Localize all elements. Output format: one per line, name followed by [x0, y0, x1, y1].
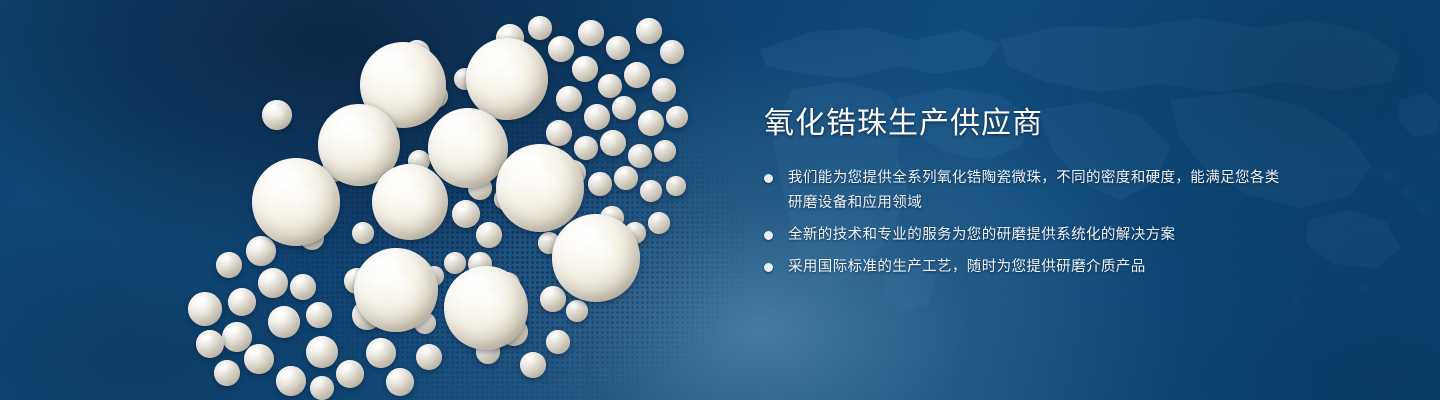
bullet-dot-icon — [764, 263, 773, 272]
list-item: 我们能为您提供全系列氧化锆陶瓷微珠，不同的密度和硬度，能满足您各类研磨设备和应用… — [764, 166, 1284, 216]
hero-banner: 氧化锆珠生产供应商 我们能为您提供全系列氧化锆陶瓷微珠，不同的密度和硬度，能满足… — [0, 0, 1440, 400]
feature-list: 我们能为您提供全系列氧化锆陶瓷微珠，不同的密度和硬度，能满足您各类研磨设备和应用… — [764, 166, 1284, 280]
list-item-label: 采用国际标准的生产工艺，随时为您提供研磨介质产品 — [788, 259, 1146, 275]
list-item: 全新的技术和专业的服务为您的研磨提供系统化的解决方案 — [764, 223, 1284, 248]
list-item-label: 我们能为您提供全系列氧化锆陶瓷微珠，不同的密度和硬度，能满足您各类研磨设备和应用… — [788, 170, 1280, 211]
page-title: 氧化锆珠生产供应商 — [764, 104, 1284, 144]
bullet-dot-icon — [764, 231, 773, 240]
list-item: 采用国际标准的生产工艺，随时为您提供研磨介质产品 — [764, 255, 1284, 280]
bullet-dot-icon — [764, 174, 773, 183]
banner-content: 氧化锆珠生产供应商 我们能为您提供全系列氧化锆陶瓷微珠，不同的密度和硬度，能满足… — [764, 104, 1284, 280]
list-item-label: 全新的技术和专业的服务为您的研磨提供系统化的解决方案 — [788, 227, 1175, 243]
